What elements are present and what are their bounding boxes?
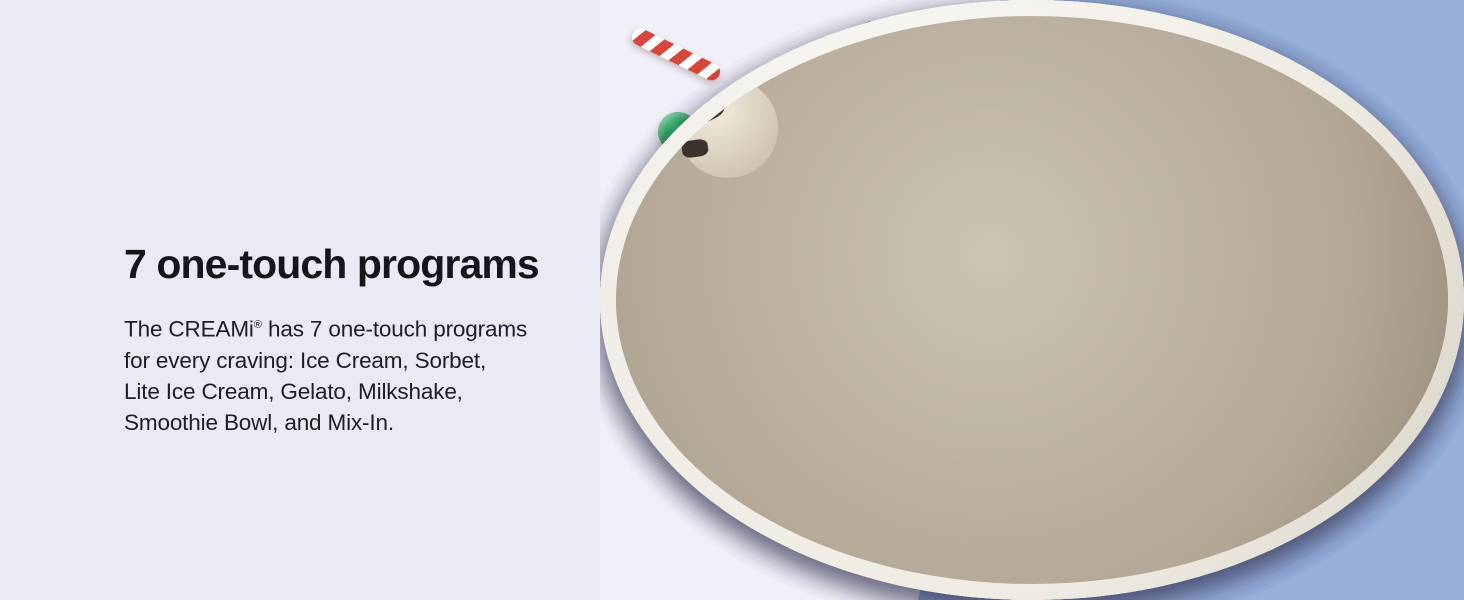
text-panel: 7 one-touch programs The CREAMi® has 7 o… [0,0,640,600]
body-line-4: Smoothie Bowl, and Mix-In. [124,410,394,435]
registered-trademark-icon: ® [254,319,262,331]
body-copy: The CREAMi® has 7 one-touch programs for… [124,310,624,438]
body-line-1-lead: The CREAMi [124,317,254,342]
body-line-1-rest: has 7 one-touch programs [262,317,527,342]
bowl-interior [616,16,1448,584]
product-photo-collage [600,0,1464,600]
page-title: 7 one-touch programs [124,243,539,286]
body-line-3: Lite Ice Cream, Gelato, Milkshake, [124,379,463,404]
body-line-2: for every craving: Ice Cream, Sorbet, [124,348,486,373]
creami-promo-banner: 7 one-touch programs The CREAMi® has 7 o… [0,0,1464,600]
